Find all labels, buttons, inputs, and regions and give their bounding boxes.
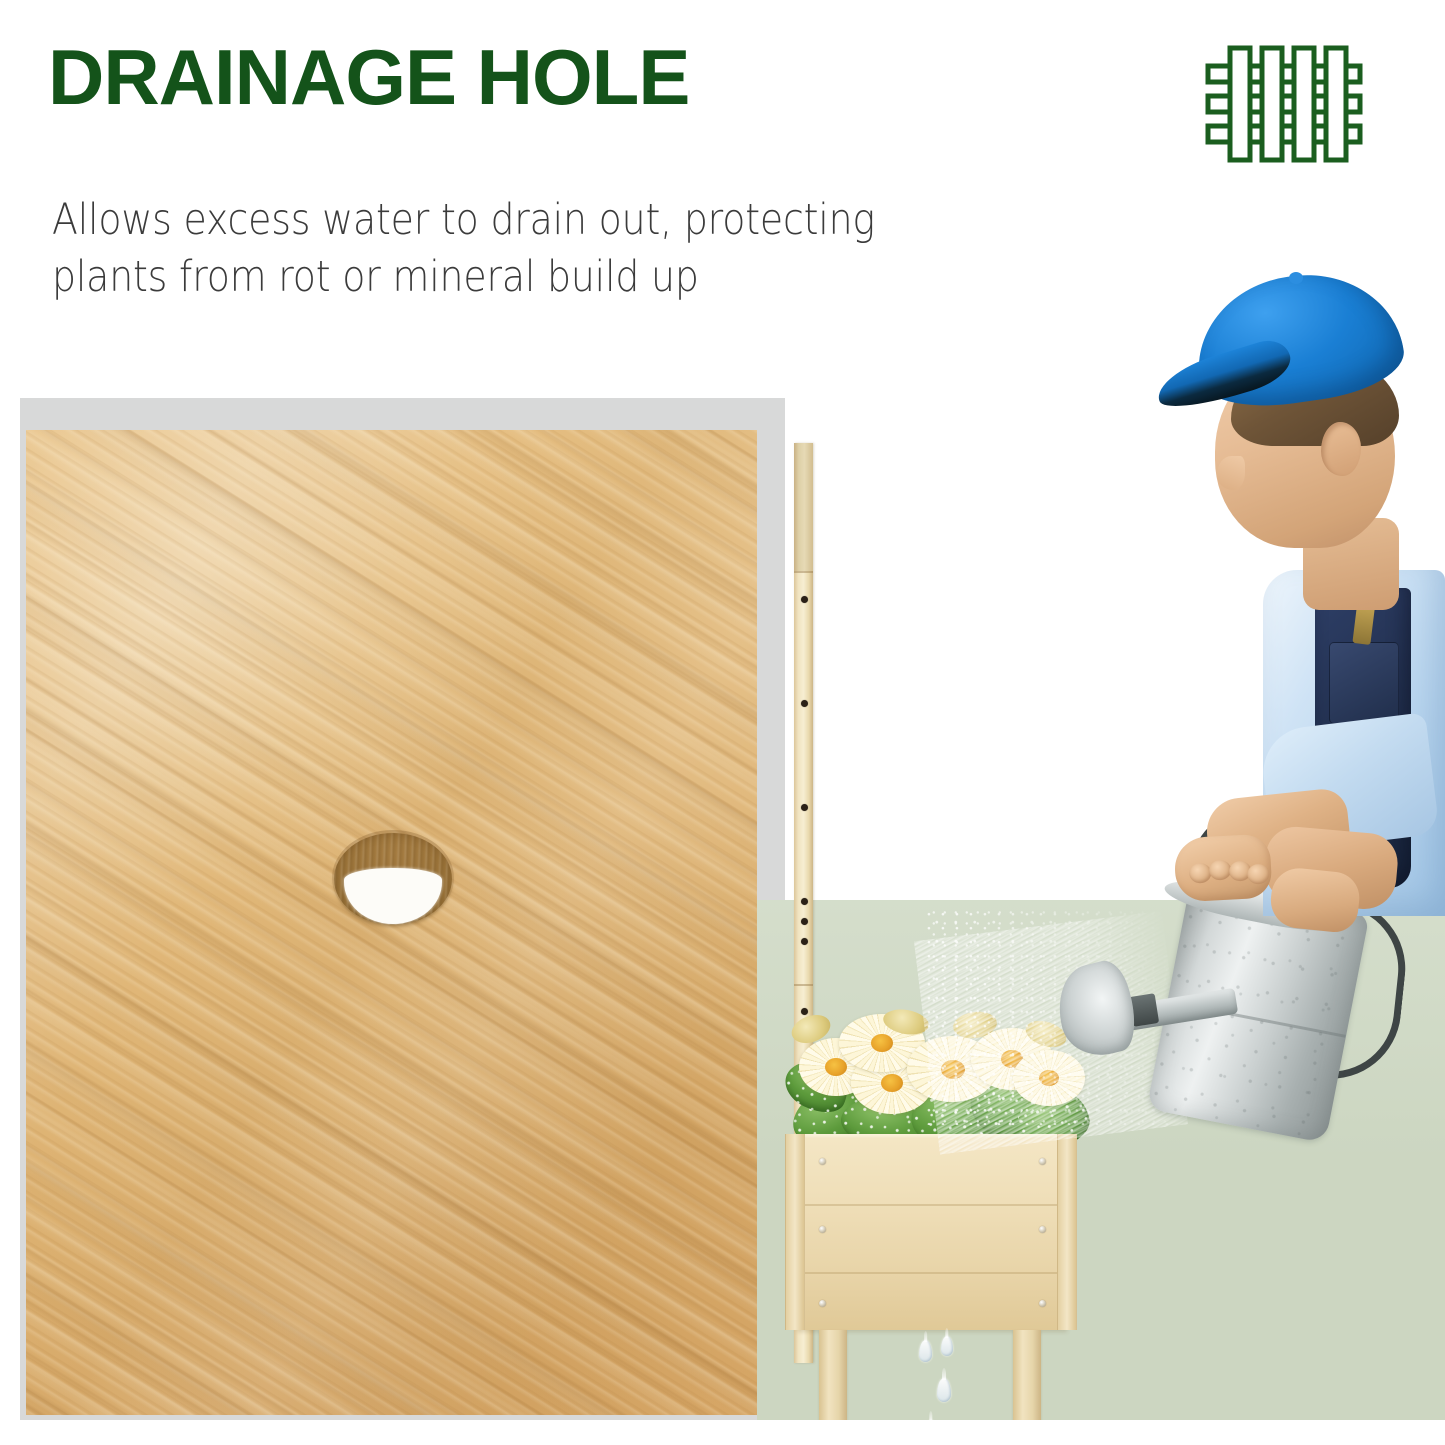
post-hole [801, 596, 808, 603]
screw [819, 1300, 826, 1307]
overalls-pocket [1329, 642, 1399, 724]
post-hole [801, 804, 808, 811]
gardener-hand [1268, 866, 1362, 935]
gardener-ear [1321, 422, 1361, 476]
screw [819, 1226, 826, 1233]
wood-closeup-photo-frame [20, 398, 785, 1420]
baseball-cap-button [1289, 272, 1303, 284]
water-drip [941, 1336, 953, 1356]
gardener-figure [1143, 270, 1445, 930]
gardener-hand-gripping-handle [1173, 834, 1272, 903]
planter-side-rail-right [1057, 1134, 1077, 1330]
screw [819, 1158, 826, 1165]
post-hole [801, 938, 808, 945]
screw [1039, 1226, 1046, 1233]
post-hole [801, 898, 808, 905]
trellis-post-seam [794, 984, 813, 986]
fence-icon [1204, 40, 1364, 168]
trellis-post-seam [794, 571, 813, 573]
planter-board-seam [797, 1272, 1067, 1274]
planter-board-seam [797, 1204, 1067, 1206]
page-subtitle: Allows excess water to drain out, protec… [52, 192, 941, 306]
screw [1039, 1300, 1046, 1307]
wood-board-photo [26, 430, 763, 1415]
post-hole [801, 700, 808, 707]
planter-leg [1013, 1330, 1041, 1420]
planter-side-rail-left [785, 1134, 805, 1330]
footer-whitespace [0, 1420, 1445, 1445]
drainage-hole [334, 833, 452, 925]
water-drip [919, 1340, 932, 1362]
planter-leg [819, 1330, 847, 1420]
gardener-nose [1217, 456, 1245, 490]
planter-box [797, 1138, 1067, 1330]
post-hole [801, 918, 808, 925]
page-title: DRAINAGE HOLE [48, 38, 689, 116]
screw [1039, 1158, 1046, 1165]
trellis-post-upper-section [794, 443, 813, 571]
